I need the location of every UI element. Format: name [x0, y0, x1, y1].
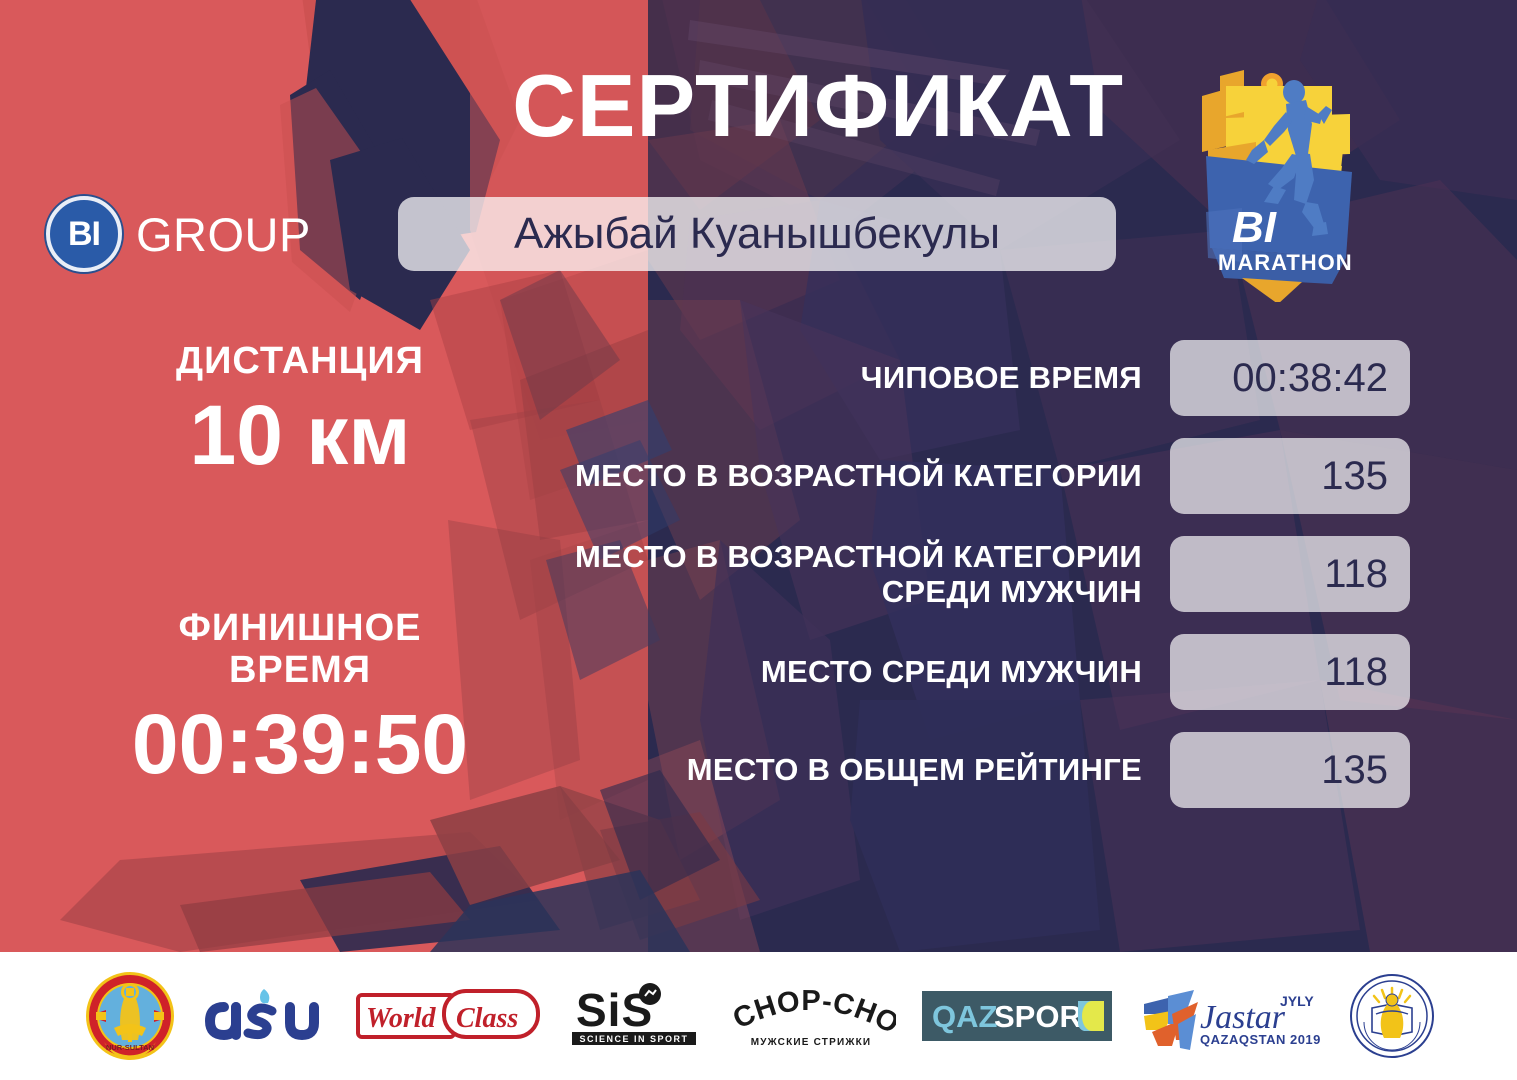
sponsor-qazsport: QAZ SPORT: [922, 970, 1112, 1062]
svg-text:CHOP-CHOP: CHOP-CHOP: [726, 983, 896, 1041]
page-title: СЕРТИФИКАТ: [0, 62, 1160, 150]
svg-text:SCIENCE IN SPORT: SCIENCE IN SPORT: [579, 1034, 688, 1044]
men-place-label: МЕСТО СРЕДИ МУЖЧИН: [530, 654, 1142, 689]
sis-logo-icon: SiS SCIENCE IN SPORT: [568, 982, 700, 1050]
overall-place-label: МЕСТО В ОБЩЕМ РЕЙТИНГЕ: [530, 752, 1142, 787]
overall-place-value: 135: [1170, 732, 1410, 808]
stat-row: МЕСТО В ВОЗРАСТНОЙ КАТЕГОРИИ 135: [530, 438, 1410, 514]
bi-group-mark-icon: BI: [46, 196, 122, 272]
certificate: СЕРТИФИКАТ BI GROUP Ажыбай Куанышбекулы: [0, 0, 1517, 1080]
sponsor-footer: NUR-SULTAN asu World Class SiS: [0, 952, 1517, 1080]
men-place-value: 118: [1170, 634, 1410, 710]
stat-row: МЕСТО СРЕДИ МУЖЧИН 118: [530, 634, 1410, 710]
nur-sultan-emblem-icon: NUR-SULTAN: [84, 970, 176, 1062]
stat-row: МЕСТО В ВОЗРАСТНОЙ КАТЕГОРИИ СРЕДИ МУЖЧИ…: [530, 536, 1410, 612]
sponsor-world-class: World Class: [356, 970, 542, 1062]
svg-text:Jastar: Jastar: [1200, 999, 1286, 1036]
age-category-place-label: МЕСТО В ВОЗРАСТНОЙ КАТЕГОРИИ: [530, 458, 1142, 493]
athlete-name-banner: Ажыбай Куанышбекулы: [398, 197, 1116, 271]
sponsor-ministry-emblem: [1350, 970, 1434, 1062]
bi-group-logo: BI GROUP: [46, 196, 311, 272]
svg-text:Class: Class: [456, 1003, 518, 1034]
sponsor-chop-chop: CHOP-CHOP МУЖСКИЕ СТРИЖКИ: [726, 970, 896, 1062]
finish-time-value: 00:39:50: [40, 700, 560, 788]
distance-value: 10 км: [40, 391, 560, 479]
chip-time-value: 00:38:42: [1170, 340, 1410, 416]
sponsor-nur-sultan-emblem: NUR-SULTAN: [84, 970, 176, 1062]
stat-row: МЕСТО В ОБЩЕМ РЕЙТИНГЕ 135: [530, 732, 1410, 808]
finish-time-block: ФИНИШНОЕ ВРЕМЯ 00:39:50: [40, 607, 560, 788]
distance-label: ДИСТАНЦИЯ: [40, 340, 560, 383]
svg-text:NUR-SULTAN: NUR-SULTAN: [105, 1043, 153, 1052]
ministry-of-culture-and-sport-emblem-icon: [1350, 974, 1434, 1058]
svg-text:QAZAQSTAN 2019: QAZAQSTAN 2019: [1200, 1032, 1321, 1047]
world-class-logo-icon: World Class: [356, 987, 542, 1045]
qazsport-logo-icon: QAZ SPORT: [922, 991, 1112, 1041]
chop-chop-logo-icon: CHOP-CHOP МУЖСКИЕ СТРИЖКИ: [726, 983, 896, 1049]
sponsor-asu: asu: [202, 970, 330, 1062]
bi-marathon-word-text: MARATHON: [1218, 250, 1353, 275]
distance-block: ДИСТАНЦИЯ 10 км: [40, 340, 560, 479]
age-category-men-place-value: 118: [1170, 536, 1410, 612]
bi-marathon-logo: BI MARATHON: [1182, 62, 1382, 302]
svg-text:QAZ: QAZ: [932, 999, 998, 1034]
stat-row: ЧИПОВОЕ ВРЕМЯ 00:38:42: [530, 340, 1410, 416]
svg-text:JYLY: JYLY: [1280, 993, 1314, 1009]
age-category-place-value: 135: [1170, 438, 1410, 514]
svg-text:МУЖСКИЕ СТРИЖКИ: МУЖСКИЕ СТРИЖКИ: [750, 1037, 871, 1048]
finish-time-label-line1: ФИНИШНОЕ: [40, 607, 560, 650]
chip-time-label: ЧИПОВОЕ ВРЕМЯ: [530, 360, 1142, 395]
age-category-men-place-label: МЕСТО В ВОЗРАСТНОЙ КАТЕГОРИИ СРЕДИ МУЖЧИ…: [530, 539, 1142, 610]
asu-logo-icon: asu: [202, 985, 330, 1047]
right-stats-column: ЧИПОВОЕ ВРЕМЯ 00:38:42 МЕСТО В ВОЗРАСТНО…: [530, 340, 1410, 808]
bi-marathon-bi-text: BI: [1232, 203, 1277, 252]
sponsor-jastar-jyly: Jastar JYLY QAZAQSTAN 2019: [1138, 970, 1324, 1062]
bi-group-wordmark: GROUP: [136, 207, 311, 262]
sponsor-sis: SiS SCIENCE IN SPORT: [568, 970, 700, 1062]
jastar-jyly-logo-icon: Jastar JYLY QAZAQSTAN 2019: [1138, 980, 1324, 1052]
left-stats-column: ДИСТАНЦИЯ 10 км ФИНИШНОЕ ВРЕМЯ 00:39:50: [40, 340, 560, 788]
svg-text:World: World: [366, 1003, 436, 1034]
finish-time-label-line2: ВРЕМЯ: [40, 649, 560, 692]
